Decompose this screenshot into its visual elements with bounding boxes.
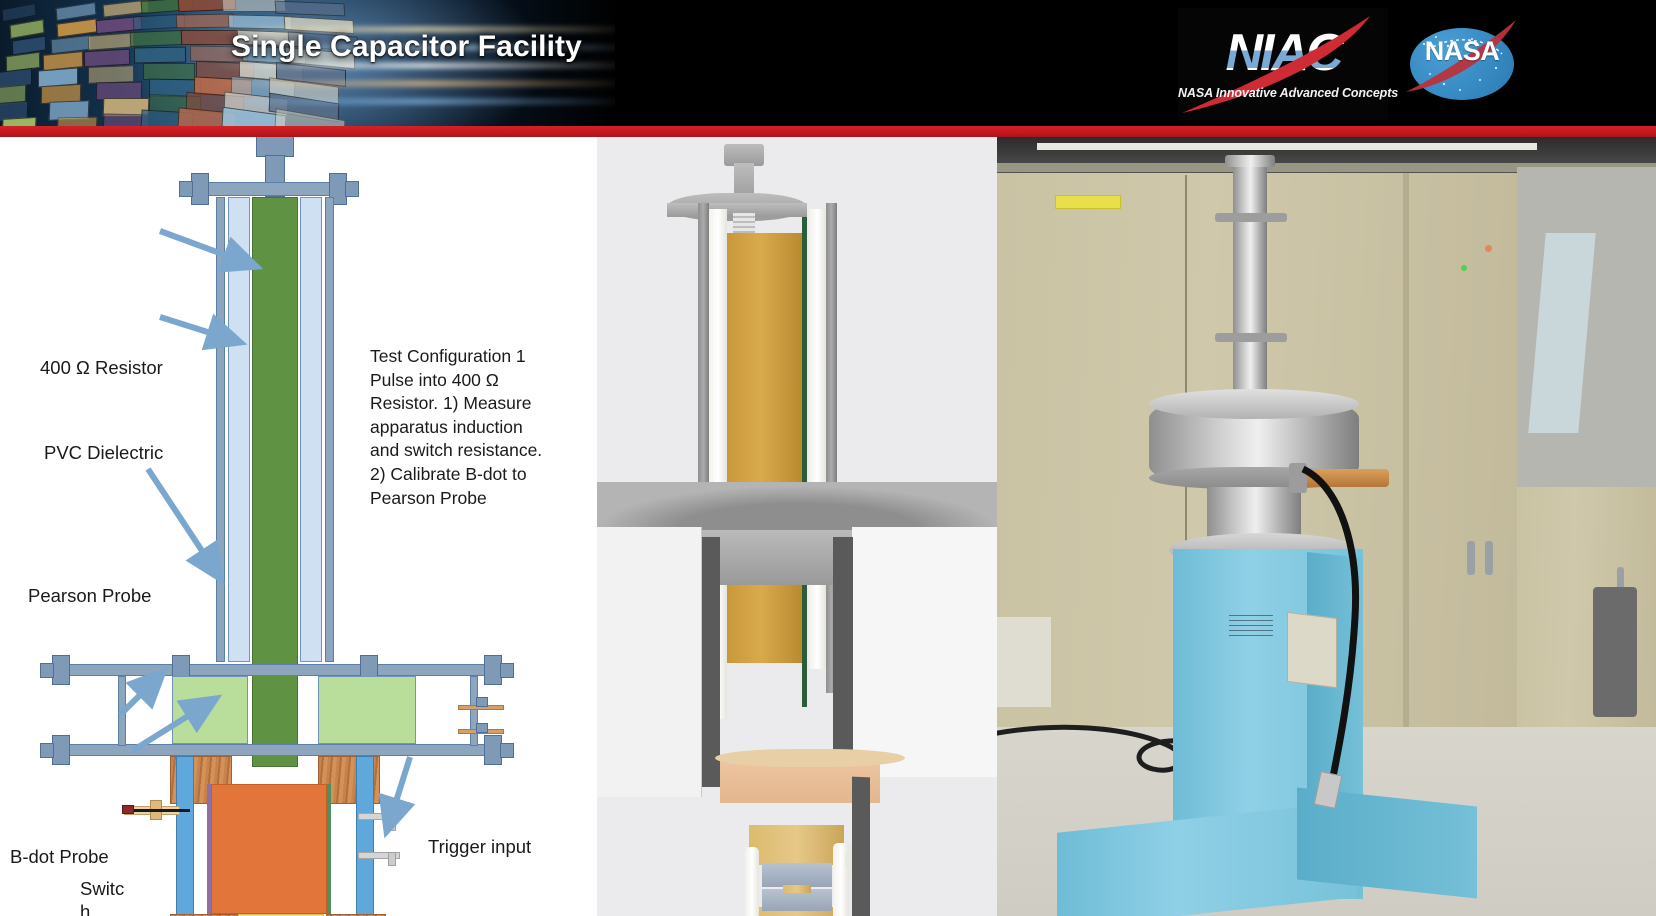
- cad-switch-top-electrode: [749, 825, 844, 865]
- mosaic-tile: [84, 49, 130, 68]
- label-switch-line1: Switc: [80, 878, 124, 900]
- photo-chair-right: [1593, 587, 1637, 717]
- note-line-6: 2) Calibrate B-dot to: [370, 463, 560, 487]
- cad-support-rib-right: [852, 777, 870, 916]
- photo-ceiling-light: [1037, 143, 1537, 150]
- mosaic-tile: [2, 3, 37, 22]
- cad-trigger-feedthrough-left: [745, 847, 759, 916]
- callout-arrows: [0, 137, 597, 916]
- cad-switch-gap-upper: [762, 863, 832, 887]
- mosaic-tile: [275, 1, 346, 17]
- header-red-divider: [0, 126, 1656, 137]
- nasa-wordmark-text: NASA: [1404, 36, 1520, 67]
- mosaic-tile: [134, 47, 186, 64]
- cad-chamber-bore: [597, 482, 997, 530]
- slide-header: Single Capacitor Facility NIAC NASA Inno…: [0, 0, 1656, 127]
- mosaic-tile: [143, 63, 195, 80]
- mosaic-tile: [56, 2, 97, 21]
- photo-column-clamp-lower: [1215, 333, 1287, 342]
- note-line-7: Pearson Probe: [370, 487, 560, 511]
- cad-conductor-column: [727, 233, 802, 663]
- nasa-logo: NASA: [1404, 14, 1520, 112]
- cad-green-liner: [802, 217, 807, 707]
- photo-cabinet-label-yellow: [1055, 195, 1121, 209]
- note-line-4: apparatus induction: [370, 416, 560, 440]
- label-pvc-dielectric: PVC Dielectric: [44, 442, 163, 464]
- label-trigger-input: Trigger input: [428, 836, 531, 858]
- photo-column-cap: [1225, 155, 1275, 167]
- slide-title: Single Capacitor Facility: [231, 30, 582, 64]
- label-400ohm-resistor: 400 Ω Resistor: [40, 357, 163, 379]
- photo-steel-column: [1233, 159, 1267, 399]
- cad-insulator-disc: [715, 749, 905, 767]
- mosaic-tile: [130, 30, 183, 47]
- photo-cabinet-dot-green: [1461, 265, 1467, 271]
- schematic-panel: 400 Ω Resistor PVC Dielectric Pearson Pr…: [0, 137, 597, 916]
- photo-vessel-lid: [1149, 389, 1359, 419]
- arrow-pvc: [160, 317, 236, 341]
- label-pearson-probe: Pearson Probe: [28, 585, 151, 607]
- photo-column-clamp-upper: [1215, 213, 1287, 222]
- niac-logo: NIAC NASA Innovative Advanced Concepts: [1178, 8, 1388, 120]
- test-configuration-note: Test Configuration 1 Pulse into 400 Ω Re…: [370, 345, 560, 510]
- photo-cabinet-dot-orange: [1485, 245, 1492, 252]
- arrow-bdot: [120, 675, 160, 715]
- niac-tagline-text: NASA Innovative Advanced Concepts: [1178, 86, 1388, 100]
- cad-insulator-right: [809, 209, 826, 669]
- label-switch-line2: h: [80, 901, 90, 916]
- lab-photograph-panel: [997, 137, 1656, 916]
- photo-cabinet-handle-right: [1485, 541, 1493, 575]
- niac-acronym-text: NIAC: [1178, 24, 1388, 82]
- cad-cross-section-panel: [597, 137, 997, 916]
- arrow-charge-line: [388, 757, 410, 827]
- photo-equipment-left: [997, 617, 1051, 707]
- cad-switch-trigger-electrode: [783, 885, 811, 893]
- note-line-5: and switch resistance.: [370, 439, 560, 463]
- cad-cut-face-right: [852, 527, 997, 777]
- label-bdot-probe: B-dot Probe: [10, 846, 109, 868]
- arrow-400ohm: [160, 231, 252, 265]
- arrow-pearson: [148, 469, 218, 575]
- cad-shadow-wall-left: [702, 537, 720, 787]
- cad-cut-face-left: [597, 527, 702, 797]
- arrow-switch: [132, 701, 212, 751]
- note-line-1: Test Configuration 1: [370, 345, 560, 369]
- note-line-2: Pulse into 400 Ω: [370, 369, 560, 393]
- slide-root: Single Capacitor Facility NIAC NASA Inno…: [0, 0, 1656, 916]
- note-line-3: Resistor. 1) Measure: [370, 392, 560, 416]
- photo-cabinet-handle-left: [1467, 541, 1475, 575]
